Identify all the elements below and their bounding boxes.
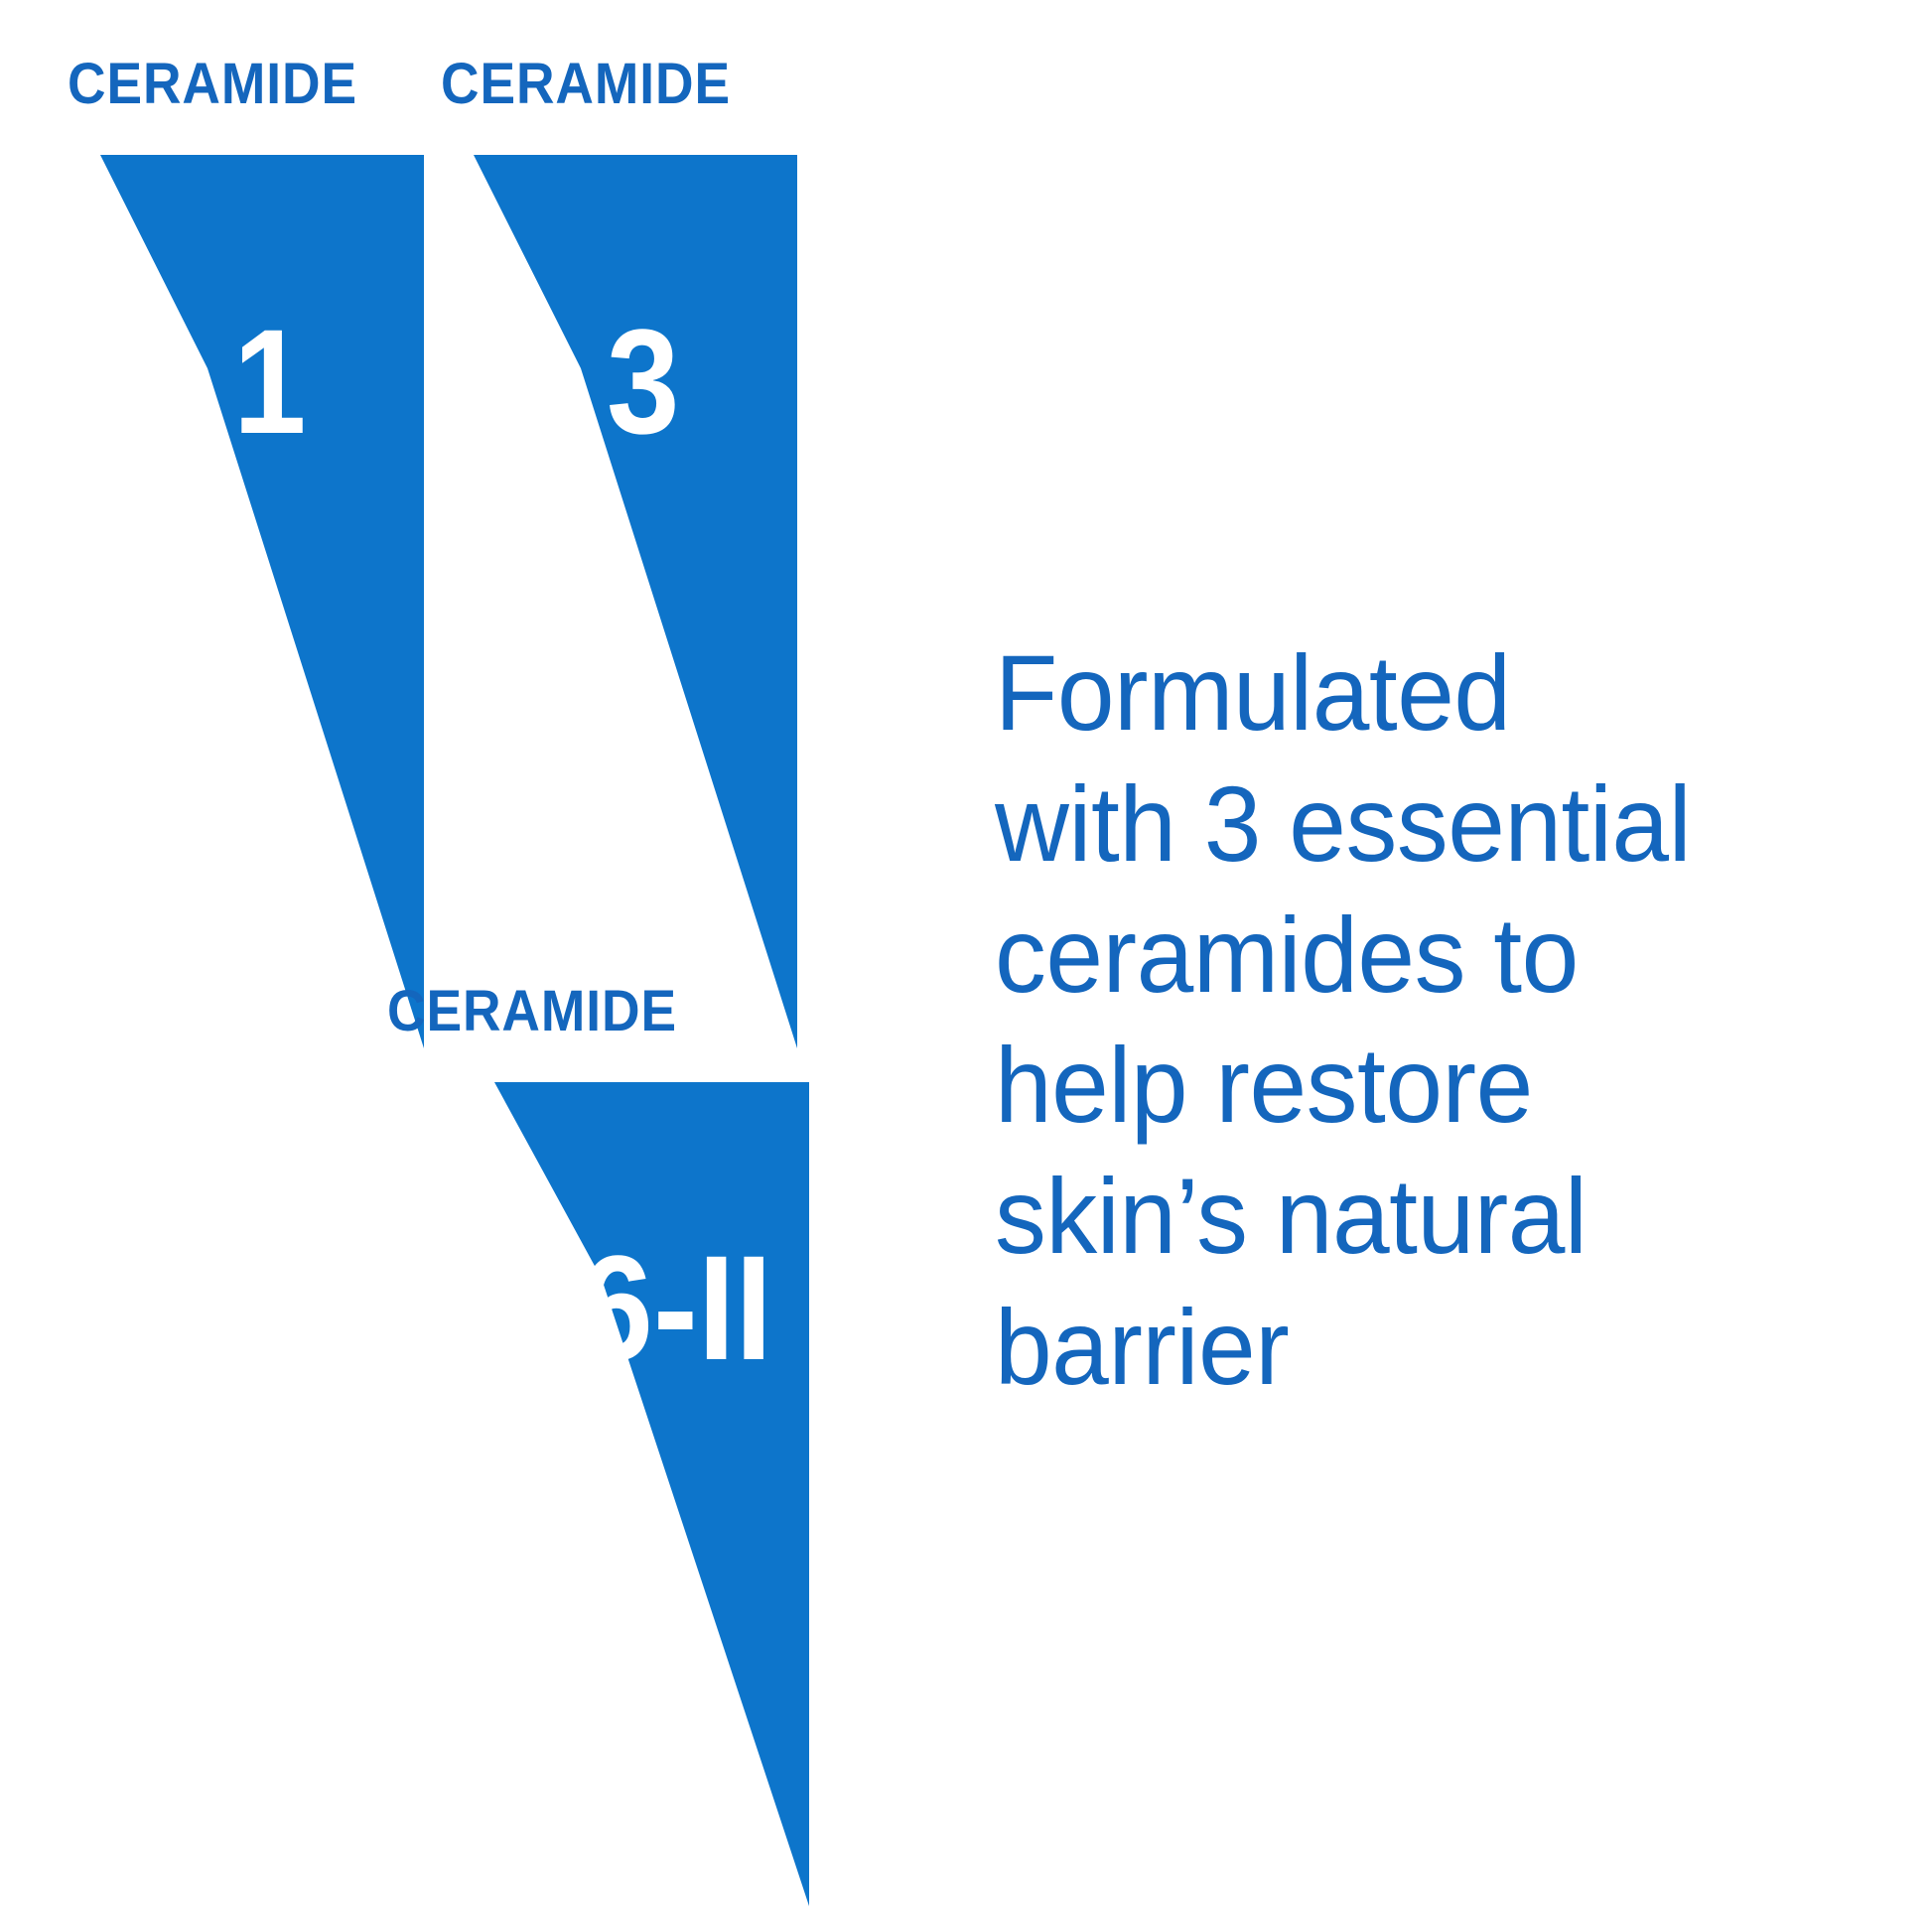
- ceramide-number-6-ii: 6-II: [579, 1233, 772, 1382]
- headline-text: Formulated with 3 essential ceramides to…: [995, 627, 1805, 1413]
- ceramide-label-1: CERAMIDE: [68, 56, 357, 113]
- headline-line-2: with 3 essential: [995, 759, 1805, 890]
- headline-line-4: help restore: [995, 1020, 1805, 1151]
- ceramide-label-6-ii: CERAMIDE: [387, 983, 677, 1040]
- headline-line-3: ceramides to: [995, 890, 1805, 1021]
- headline-line-5: skin’s natural: [995, 1151, 1805, 1282]
- ceramide-label-3: CERAMIDE: [441, 56, 731, 113]
- headline-line-1: Formulated: [995, 627, 1805, 759]
- ceramide-wedge-1: 1: [92, 155, 450, 1048]
- ceramide-number-3: 3: [607, 307, 679, 456]
- ceramide-number-1: 1: [233, 307, 306, 456]
- ceramide-wedge-3: 3: [466, 155, 823, 1048]
- ceramide-wedge-6-ii: 6-II: [486, 1082, 844, 1906]
- ceramide-infographic: CERAMIDE 1 CERAMIDE 3 CERAMIDE 6-II Form…: [0, 0, 1932, 1932]
- headline-line-6: barrier: [995, 1282, 1805, 1413]
